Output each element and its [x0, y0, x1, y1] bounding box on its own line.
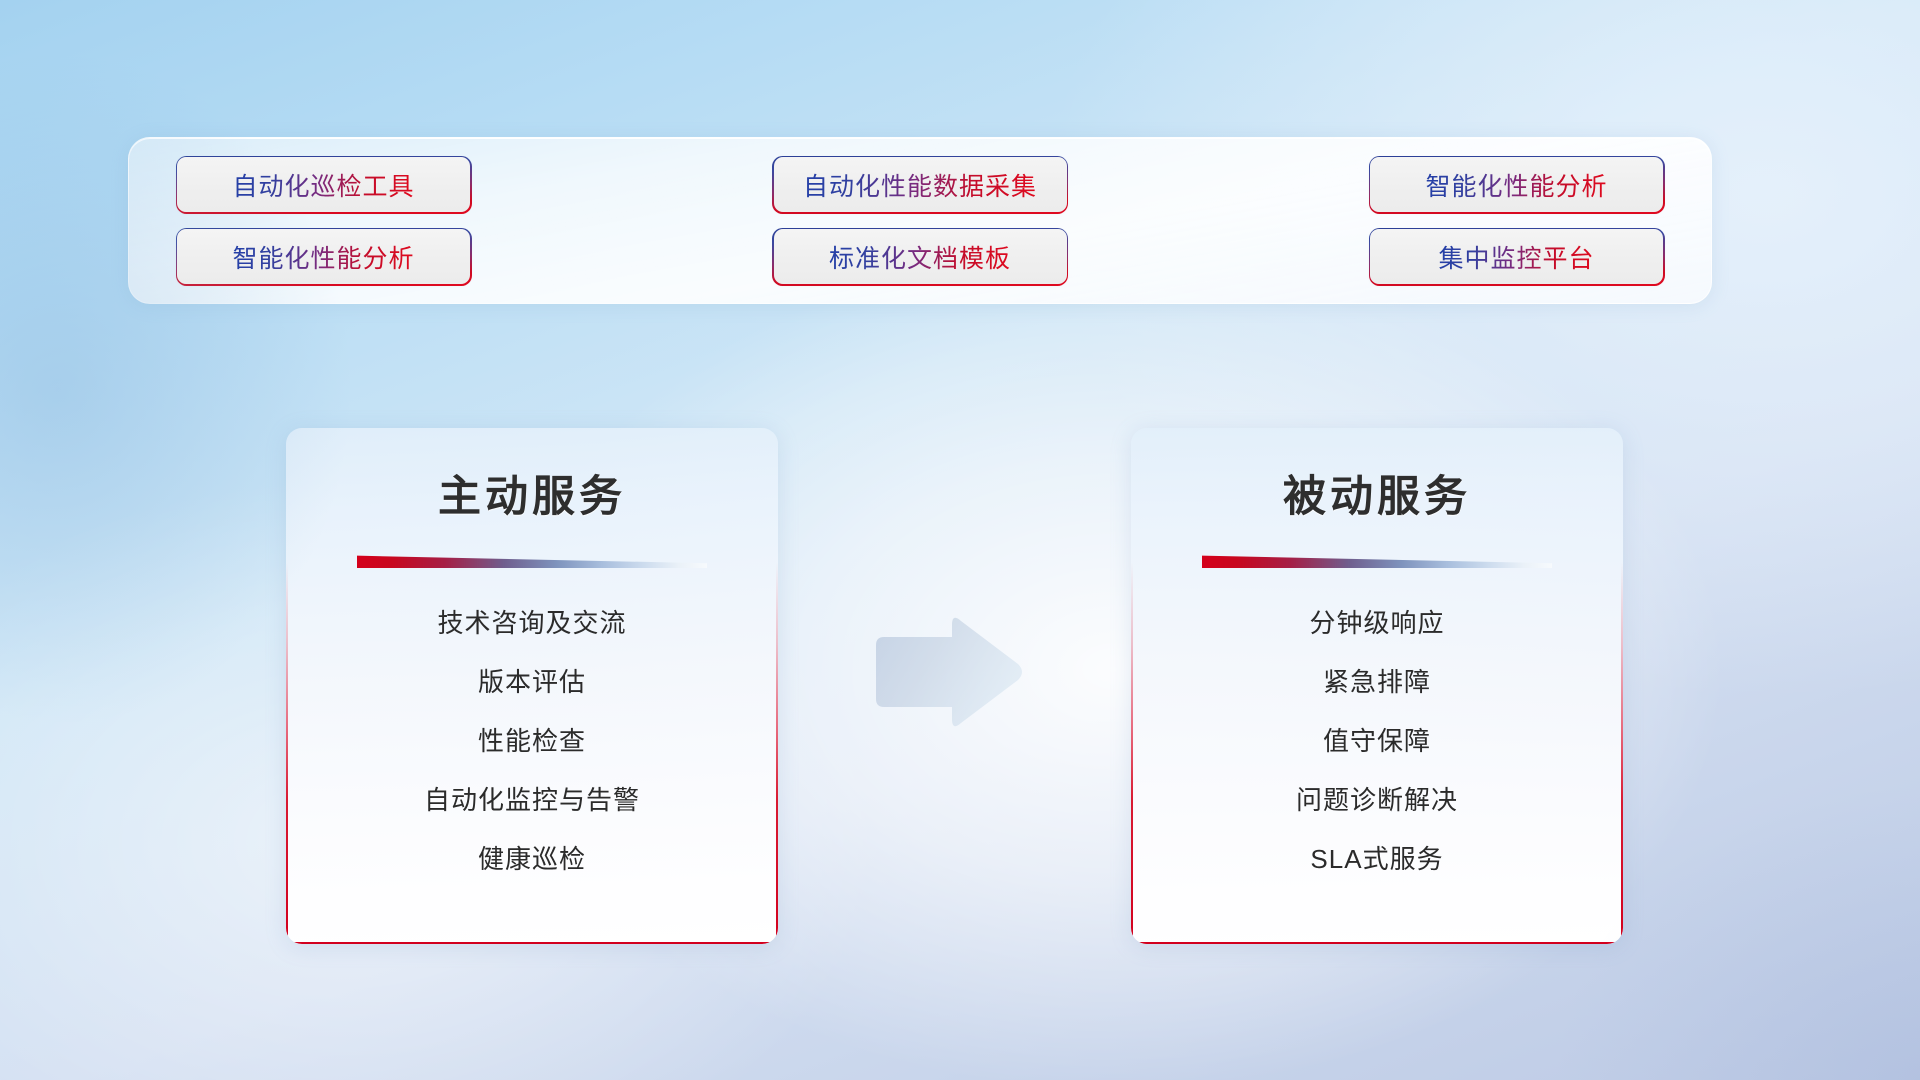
slide-canvas: 自动化巡检工具 自动化性能数据采集 智能化性能分析 智能化性能分析 标准化文档模… — [0, 0, 1920, 1080]
service-list-item[interactable]: 分钟级响应 — [1309, 594, 1444, 653]
capability-pill[interactable]: 标准化文档模板 — [774, 229, 1067, 284]
capability-pill-label: 标准化文档模板 — [829, 239, 1011, 275]
capability-pill-label: 集中监控平台 — [1438, 239, 1594, 275]
service-list-item[interactable]: 紧急排障 — [1323, 653, 1431, 712]
capabilities-row-2: 智能化性能分析 标准化文档模板 集中监控平台 — [177, 221, 1663, 293]
capability-pill-label: 自动化性能数据采集 — [803, 167, 1037, 203]
service-list-item[interactable]: SLA式服务 — [1310, 830, 1443, 889]
capability-pill[interactable]: 集中监控平台 — [1370, 229, 1663, 284]
card-bottom-accent — [286, 942, 778, 945]
capabilities-row-1: 自动化巡检工具 自动化性能数据采集 智能化性能分析 — [177, 149, 1663, 221]
service-list-item[interactable]: 技术咨询及交流 — [437, 594, 626, 653]
service-card-reactive: 被动服务 分钟级响应 紧急排障 值守保障 问题诊断解决 SLA式服务 — [1131, 428, 1623, 944]
capabilities-panel: 自动化巡检工具 自动化性能数据采集 智能化性能分析 智能化性能分析 标准化文档模… — [128, 137, 1712, 304]
title-divider — [357, 554, 707, 568]
service-card-title: 主动服务 — [286, 462, 778, 524]
capability-pill[interactable]: 自动化巡检工具 — [177, 157, 470, 212]
capability-pill[interactable]: 自动化性能数据采集 — [774, 157, 1067, 212]
capability-pill[interactable]: 智能化性能分析 — [177, 229, 470, 284]
service-card-proactive: 主动服务 技术咨询及交流 版本评估 性能检查 自动化监控与告警 健康巡检 — [286, 428, 778, 944]
capability-pill-label: 智能化性能分析 — [1425, 167, 1607, 203]
arrow-right-icon — [868, 613, 1028, 731]
service-list-item[interactable]: 值守保障 — [1323, 712, 1431, 771]
service-list-item[interactable]: 自动化监控与告警 — [424, 771, 640, 830]
service-list-item[interactable]: 性能检查 — [478, 712, 586, 771]
service-card-title: 被动服务 — [1131, 462, 1623, 524]
service-item-list: 技术咨询及交流 版本评估 性能检查 自动化监控与告警 健康巡检 — [286, 594, 778, 889]
title-divider — [1202, 554, 1552, 568]
card-bottom-accent — [1131, 942, 1623, 945]
service-list-item[interactable]: 健康巡检 — [478, 830, 586, 889]
service-item-list: 分钟级响应 紧急排障 值守保障 问题诊断解决 SLA式服务 — [1131, 594, 1623, 889]
capability-pill-label: 智能化性能分析 — [232, 239, 414, 275]
capability-pill[interactable]: 智能化性能分析 — [1370, 157, 1663, 212]
capability-pill-label: 自动化巡检工具 — [232, 167, 414, 203]
service-list-item[interactable]: 版本评估 — [478, 653, 586, 712]
service-list-item[interactable]: 问题诊断解决 — [1296, 771, 1458, 830]
